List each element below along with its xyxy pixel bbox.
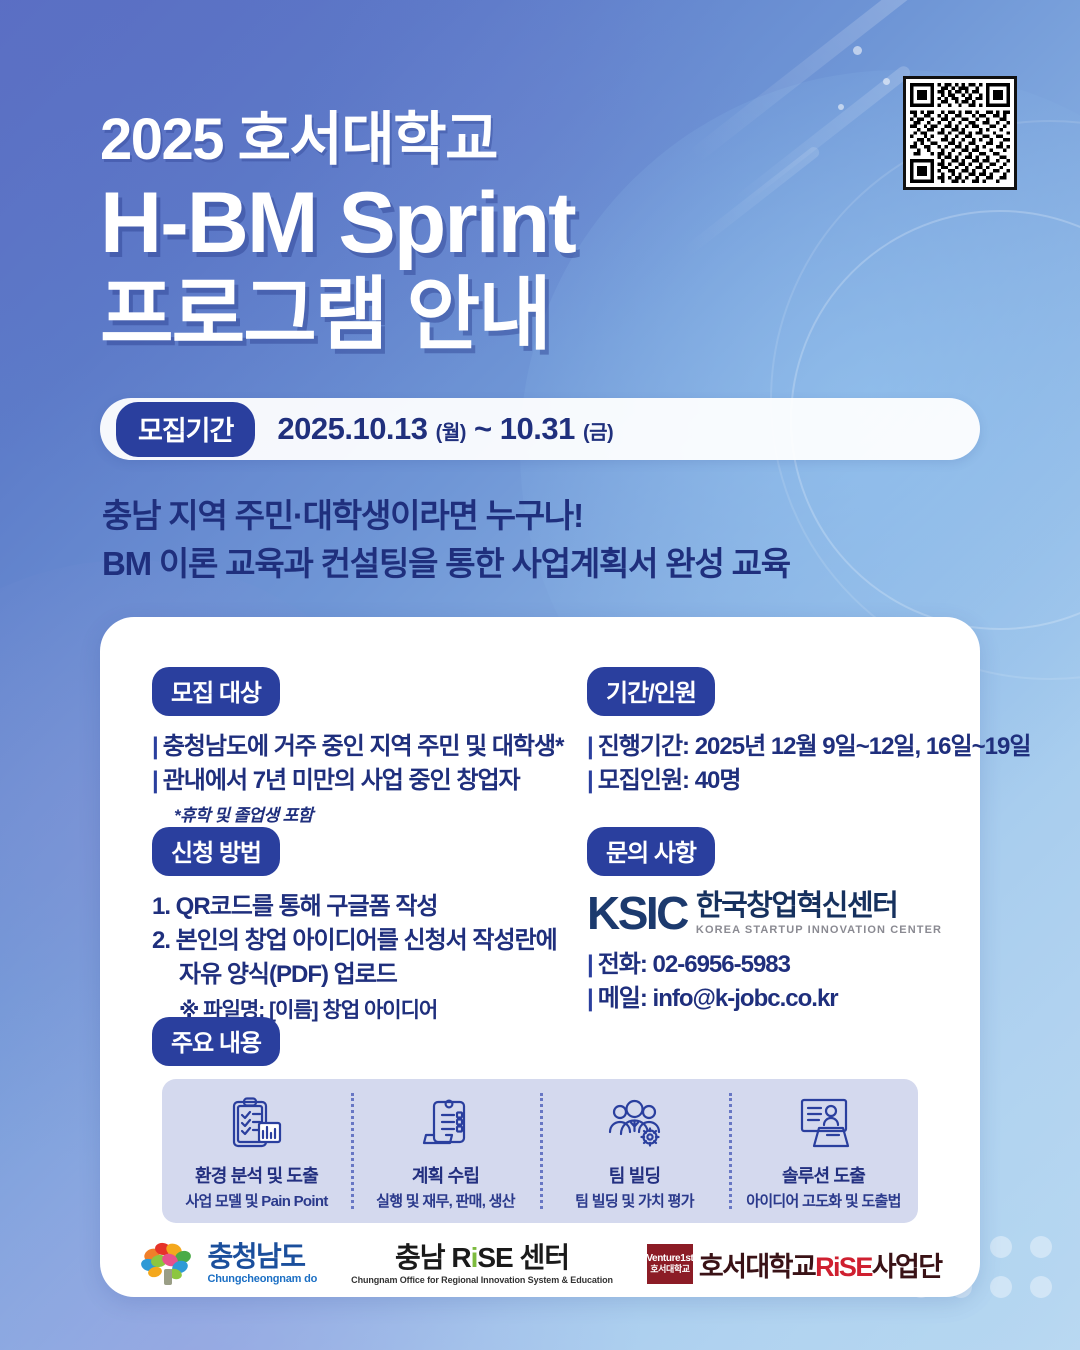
footer-logos: 충청남도 Chungcheongnam do 충남 RiSE 센터 Chungn… (100, 1241, 980, 1287)
content-cell-title: 팀 빌딩 (609, 1162, 660, 1188)
rise-center-ko-pre: 충남 (395, 1242, 445, 1273)
poster-subtitle: 충남 지역 주민·대학생이라면 누구나! BM 이론 교육과 컨설팅을 통한 사… (102, 492, 790, 588)
list-item-label: 모집인원: 40명 (598, 767, 741, 794)
section-period-people: 기간/인원 |진행기간: 2025년 12월 9일~12일, 16일~19일 |… (587, 667, 1030, 798)
rise-center-ko-post: 센터 (520, 1242, 570, 1273)
content-cell: 환경 분석 및 도출 사업 모델 및 Pain Point (162, 1079, 351, 1223)
content-highlights: 환경 분석 및 도출 사업 모델 및 Pain Point 계획 수립 (162, 1079, 918, 1223)
recruitment-period-value: 2025.10.13 (월) ~ 10.31 (금) (277, 411, 613, 447)
rise-center-mark: RiSE (451, 1242, 512, 1273)
content-cell: 계획 수립 실행 및 재무, 판매, 생산 (351, 1079, 540, 1223)
clipboard-chart-icon (229, 1095, 285, 1153)
contact-email-label[interactable]: 메일: info@k-jobc.co.kr (598, 985, 838, 1012)
section-content-chip: 주요 내용 (152, 1017, 280, 1066)
list-item-label: 충청남도에 거주 중인 지역 주민 및 대학생* (163, 733, 564, 760)
team-gear-icon (606, 1095, 664, 1153)
period-end-dow: (금) (583, 422, 613, 444)
bullet-bar-icon: | (587, 951, 593, 978)
section-period-people-list: |진행기간: 2025년 12월 9일~12일, 16일~19일 |모집인원: … (587, 730, 1030, 798)
list-item: 자유 양식(PDF) 업로드 (152, 958, 557, 992)
ksic-logo: KSIC 한국창업혁신센터 KOREA STARTUP INNOVATION C… (587, 892, 942, 936)
hoseo-ko-post: 사업단 (872, 1252, 942, 1282)
presentation-icon (796, 1095, 852, 1153)
list-item: 2. 본인의 창업 아이디어를 신청서 작성란에 (152, 924, 557, 958)
bullet-bar-icon: | (152, 733, 158, 760)
clipboard-plan-icon (420, 1095, 472, 1153)
rise-center-en: Chungnam Office for Regional Innovation … (351, 1276, 613, 1285)
content-cell-title: 솔루션 도출 (782, 1162, 865, 1188)
section-target-chip: 모집 대상 (152, 667, 280, 716)
hoseo-ko-pre: 호서대학교 (699, 1252, 815, 1282)
hoseo-rise-mark: RiSE (815, 1252, 872, 1282)
contact-details: |전화: 02-6956-5983 |메일: info@k-jobc.co.kr (587, 948, 942, 1016)
period-tilde: ~ (474, 411, 492, 446)
ksic-name-en: KOREA STARTUP INNOVATION CENTER (696, 924, 942, 936)
rise-center-wordmark: 충남 RiSE 센터 (351, 1244, 613, 1272)
section-target: 모집 대상 |충청남도에 거주 중인 지역 주민 및 대학생* |관내에서 7년… (152, 667, 563, 826)
content-cell-subtitle: 사업 모델 및 Pain Point (185, 1190, 327, 1211)
content-cell: 팀 빌딩 팀 빌딩 및 가치 평가 (540, 1079, 729, 1223)
content-cell-subtitle: 실행 및 재무, 판매, 생산 (376, 1190, 515, 1211)
logo-chungnam-rise-center: 충남 RiSE 센터 Chungnam Office for Regional … (351, 1244, 613, 1285)
recruitment-period-bar: 모집기간 2025.10.13 (월) ~ 10.31 (금) (100, 398, 980, 460)
list-item: |충청남도에 거주 중인 지역 주민 및 대학생* (152, 730, 563, 764)
hoseo-badge-line2: 호서대학교 (650, 1265, 689, 1274)
section-target-list: |충청남도에 거주 중인 지역 주민 및 대학생* |관내에서 7년 미만의 사… (152, 730, 563, 826)
period-end: 10.31 (500, 411, 575, 446)
list-item: |관내에서 7년 미만의 사업 중인 창업자 (152, 764, 563, 798)
bg-dot (838, 104, 844, 110)
bullet-bar-icon: | (587, 767, 593, 794)
hoseo-rise-wordmark: 호서대학교RiSE사업단 (699, 1245, 942, 1284)
page-subtitle-title: 프로그램 안내 (100, 275, 550, 355)
contact-email: |메일: info@k-jobc.co.kr (587, 982, 942, 1016)
list-item: |진행기간: 2025년 12월 9일~12일, 16일~19일 (587, 730, 1030, 764)
content-cell-subtitle: 아이디어 고도화 및 도출법 (746, 1190, 901, 1211)
chungcheongnam-ko: 충청남도 (208, 1243, 318, 1271)
hoseo-badge-line1: Venture1st (646, 1254, 693, 1265)
contact-phone-label[interactable]: 전화: 02-6956-5983 (598, 951, 790, 978)
ksic-name-block: 한국창업혁신센터 KOREA STARTUP INNOVATION CENTER (696, 892, 942, 936)
period-start-dow: (월) (436, 422, 466, 444)
section-apply-steps: 1. QR코드를 통해 구글폼 작성 2. 본인의 창업 아이디어를 신청서 작… (152, 890, 557, 1024)
list-item-label: 진행기간: 2025년 12월 9일~12일, 16일~19일 (598, 733, 1031, 760)
info-card: 모집 대상 |충청남도에 거주 중인 지역 주민 및 대학생* |관내에서 7년… (100, 617, 980, 1297)
section-period-people-chip: 기간/인원 (587, 667, 715, 716)
ksic-name-ko: 한국창업혁신센터 (696, 890, 897, 922)
content-cell: 솔루션 도출 아이디어 고도화 및 도출법 (729, 1079, 918, 1223)
section-contact: 문의 사항 KSIC 한국창업혁신센터 KOREA STARTUP INNOVA… (587, 827, 942, 1016)
section-target-note: *휴학 및 졸업생 포함 (174, 801, 563, 826)
bg-dot (853, 46, 862, 55)
content-cell-subtitle: 팀 빌딩 및 가치 평가 (575, 1190, 694, 1211)
list-item-label: 관내에서 7년 미만의 사업 중인 창업자 (163, 767, 520, 794)
chungcheongnam-en: Chungcheongnam do (208, 1274, 318, 1285)
ksic-wordmark: KSIC (587, 892, 687, 936)
section-content: 주요 내용 (152, 1017, 280, 1066)
bullet-bar-icon: | (587, 733, 593, 760)
logo-hoseo-rise: Venture1st 호서대학교 호서대학교RiSE사업단 (647, 1244, 942, 1284)
chungcheongnam-text: 충청남도 Chungcheongnam do (208, 1243, 318, 1285)
pretitle: 2025 호서대학교 (100, 92, 497, 176)
list-item: 1. QR코드를 통해 구글폼 작성 (152, 890, 557, 924)
section-apply-chip: 신청 방법 (152, 827, 280, 876)
section-apply: 신청 방법 1. QR코드를 통해 구글폼 작성 2. 본인의 창업 아이디어를… (152, 827, 557, 1024)
subtitle-line-2: BM 이론 교육과 컨설팅을 통한 사업계획서 완성 교육 (102, 540, 790, 588)
bullet-bar-icon: | (587, 985, 593, 1012)
hoseo-venture1st-badge: Venture1st 호서대학교 (647, 1244, 693, 1284)
content-cell-title: 환경 분석 및 도출 (195, 1162, 318, 1188)
contact-phone: |전화: 02-6956-5983 (587, 948, 942, 982)
logo-chungcheongnam-do: 충청남도 Chungcheongnam do (139, 1241, 318, 1287)
qr-code-icon[interactable] (903, 76, 1017, 190)
subtitle-line-1: 충남 지역 주민·대학생이라면 누구나! (102, 492, 790, 540)
list-item: |모집인원: 40명 (587, 764, 1030, 798)
poster-root: 2025 호서대학교 H-BM Sprint 프로그램 안내 (0, 0, 1080, 1350)
bg-dot (883, 78, 890, 85)
section-contact-chip: 문의 사항 (587, 827, 715, 876)
chungcheongnam-tree-icon (139, 1241, 199, 1287)
bullet-bar-icon: | (152, 767, 158, 794)
content-cell-title: 계획 수립 (412, 1162, 479, 1188)
page-title: H-BM Sprint (100, 180, 575, 266)
recruitment-period-chip: 모집기간 (116, 402, 255, 457)
period-start: 2025.10.13 (277, 411, 427, 446)
